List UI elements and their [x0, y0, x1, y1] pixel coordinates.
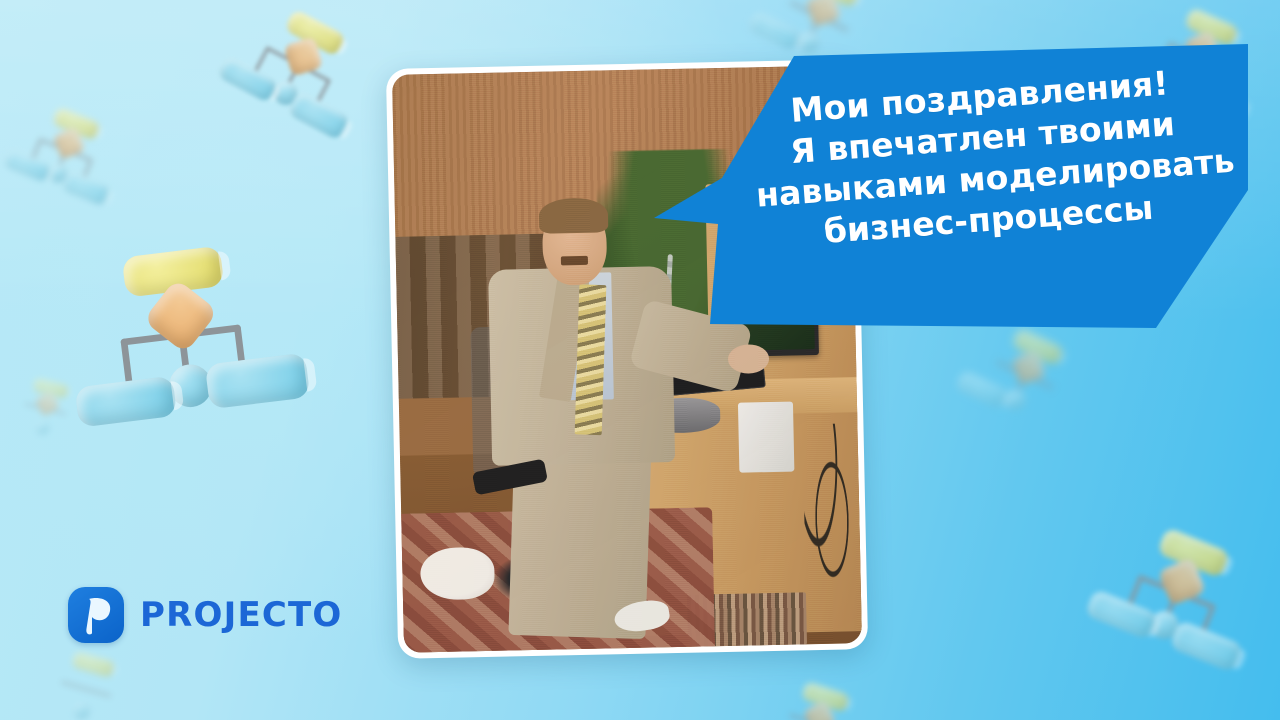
projecto-wordmark: PROJECTO — [140, 595, 343, 635]
projecto-p-glyph — [68, 587, 124, 643]
speech-bubble: Мои поздравления! Я впечатлен твоими нав… — [648, 28, 1256, 346]
poster-canvas: Мои поздравления! Я впечатлен твоими нав… — [0, 0, 1280, 720]
projecto-logo[interactable]: PROJECTO — [68, 587, 343, 643]
speech-bubble-text: Мои поздравления! Я впечатлен твоими нав… — [749, 59, 1220, 256]
projecto-p-icon — [68, 587, 124, 643]
